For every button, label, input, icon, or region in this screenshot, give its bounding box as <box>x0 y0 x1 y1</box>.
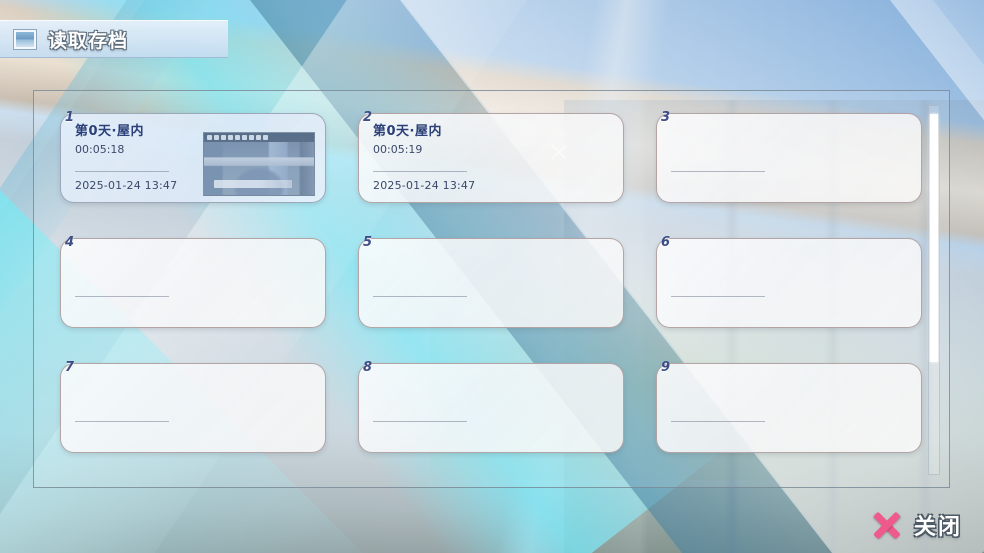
window-title-bar: 读取存档 <box>0 20 228 58</box>
slot-date: 2025-01-24 13:47 <box>75 179 177 192</box>
save-slot-5[interactable]: 5 <box>358 238 624 328</box>
slot-content <box>373 249 613 319</box>
save-slot-3[interactable]: 3 <box>656 113 922 203</box>
slot-content: 第0天·屋内 00:05:18 2025-01-24 13:47 <box>75 124 315 194</box>
save-slot-4[interactable]: 4 <box>60 238 326 328</box>
slot-content <box>373 374 613 444</box>
slot-number: 4 <box>65 235 74 250</box>
slot-thumbnail <box>203 132 315 196</box>
slot-divider <box>373 296 467 297</box>
slot-divider <box>671 296 765 297</box>
close-button[interactable]: 关闭 <box>872 509 962 541</box>
slot-divider <box>373 171 467 172</box>
thumbnail-toolbar <box>204 133 314 142</box>
slot-content <box>671 249 911 319</box>
slot-divider <box>373 421 467 422</box>
slot-divider <box>75 296 169 297</box>
save-slot-7[interactable]: 7 <box>60 363 326 453</box>
slot-divider <box>75 421 169 422</box>
slot-number: 7 <box>65 360 74 375</box>
save-slot-2[interactable]: 2 第0天·屋内 00:05:19 2025-01-24 13:47 <box>358 113 624 203</box>
slot-divider <box>75 171 169 172</box>
picture-icon <box>14 30 36 49</box>
slot-content <box>671 374 911 444</box>
slot-divider <box>671 421 765 422</box>
close-button-label: 关闭 <box>914 509 962 541</box>
page-title: 读取存档 <box>48 26 128 53</box>
scrollbar-track[interactable] <box>928 105 940 475</box>
slot-divider <box>671 171 765 172</box>
save-slot-9[interactable]: 9 <box>656 363 922 453</box>
slot-playtime: 00:05:19 <box>373 143 613 157</box>
slot-number: 5 <box>363 235 372 250</box>
save-slot-8[interactable]: 8 <box>358 363 624 453</box>
slot-number: 9 <box>661 360 670 375</box>
slot-content <box>671 124 911 194</box>
load-save-screen: 读取存档 1 第0天·屋内 00:05:18 2025-01-24 13:47 <box>0 0 984 553</box>
close-x-icon[interactable] <box>549 142 569 162</box>
save-slot-1[interactable]: 1 第0天·屋内 00:05:18 2025-01-24 13:47 <box>60 113 326 203</box>
slot-title: 第0天·屋内 <box>373 124 613 140</box>
thumbnail-caption <box>214 180 292 188</box>
slot-number: 1 <box>65 110 74 125</box>
save-slot-grid: 1 第0天·屋内 00:05:18 2025-01-24 13:47 2 第0天… <box>60 113 928 473</box>
scrollbar-thumb[interactable] <box>930 114 938 362</box>
save-slot-6[interactable]: 6 <box>656 238 922 328</box>
slot-number: 2 <box>363 110 372 125</box>
slot-number: 3 <box>661 110 670 125</box>
slot-date: 2025-01-24 13:47 <box>373 179 475 192</box>
slot-number: 8 <box>363 360 372 375</box>
slot-content: 第0天·屋内 00:05:19 2025-01-24 13:47 <box>373 124 613 194</box>
close-x-icon <box>872 510 902 540</box>
slot-content <box>75 249 315 319</box>
slot-number: 6 <box>661 235 670 250</box>
slot-content <box>75 374 315 444</box>
